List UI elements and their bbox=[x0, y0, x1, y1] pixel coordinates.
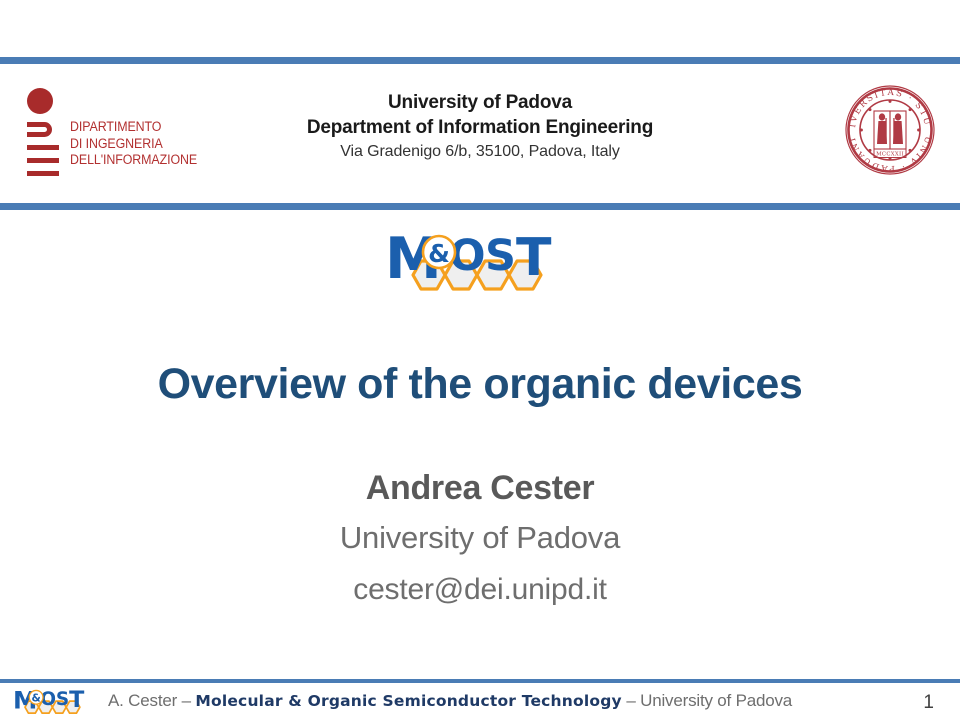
author-name: Andrea Cester bbox=[0, 465, 960, 512]
department-logo: DIPARTIMENTO DI INGEGNERIA DELL'INFORMAZ… bbox=[20, 86, 210, 182]
slide-header: DIPARTIMENTO DI INGEGNERIA DELL'INFORMAZ… bbox=[0, 64, 960, 203]
svg-text:MCCXXII: MCCXXII bbox=[876, 152, 904, 158]
footer-group-name: Molecular & Organic Semiconductor Techno… bbox=[195, 692, 621, 710]
footer-text: A. Cester – Molecular & Organic Semicond… bbox=[108, 691, 792, 711]
dii-bar-shape bbox=[27, 145, 59, 150]
slide-footer: M O S T & A. Cester – Molecular & Organi… bbox=[0, 683, 960, 720]
footer-prefix: A. Cester – bbox=[108, 691, 195, 710]
header-institution-block: University of Padova Department of Infor… bbox=[230, 90, 730, 164]
institution-name: University of Padova bbox=[230, 90, 730, 115]
author-block: Andrea Cester University of Padova ceste… bbox=[0, 465, 960, 616]
svg-text:S: S bbox=[485, 231, 514, 281]
svg-text:T: T bbox=[69, 687, 85, 713]
presentation-slide: DIPARTIMENTO DI INGEGNERIA DELL'INFORMAZ… bbox=[0, 0, 960, 720]
dii-bracket-shape bbox=[27, 122, 52, 137]
department-logo-text: DIPARTIMENTO DI INGEGNERIA DELL'INFORMAZ… bbox=[70, 86, 197, 169]
university-seal-icon: UNIVERSITAS · STUDII UNIV · PADUANI bbox=[838, 78, 942, 182]
author-email: cester@dei.unipd.it bbox=[0, 564, 960, 616]
header-bottom-rule bbox=[0, 203, 960, 210]
slide-title: Overview of the organic devices bbox=[0, 358, 960, 410]
dii-line-2: DI INGEGNERIA bbox=[70, 136, 197, 153]
author-affiliation: University of Padova bbox=[0, 512, 960, 564]
header-top-rule bbox=[0, 57, 960, 64]
most-logo-footer: M O S T & bbox=[6, 687, 98, 717]
institution-address: Via Gradenigo 6/b, 35100, Padova, Italy bbox=[230, 140, 730, 164]
svg-text:T: T bbox=[516, 228, 552, 288]
dii-bar-shape bbox=[27, 171, 59, 176]
most-logo: M O S T & bbox=[383, 228, 569, 298]
department-name: Department of Information Engineering bbox=[230, 115, 730, 140]
svg-text:&: & bbox=[428, 239, 450, 268]
dii-bar-shape bbox=[27, 158, 59, 163]
svg-text:&: & bbox=[31, 692, 40, 705]
page-number: 1 bbox=[923, 692, 934, 714]
dii-dot-shape bbox=[27, 88, 53, 114]
svg-text:S: S bbox=[56, 689, 68, 710]
footer-suffix: – University of Padova bbox=[622, 691, 792, 710]
dii-line-3: DELL'INFORMAZIONE bbox=[70, 152, 197, 169]
dii-mark-icon bbox=[20, 86, 64, 178]
dii-line-1: DIPARTIMENTO bbox=[70, 119, 197, 136]
